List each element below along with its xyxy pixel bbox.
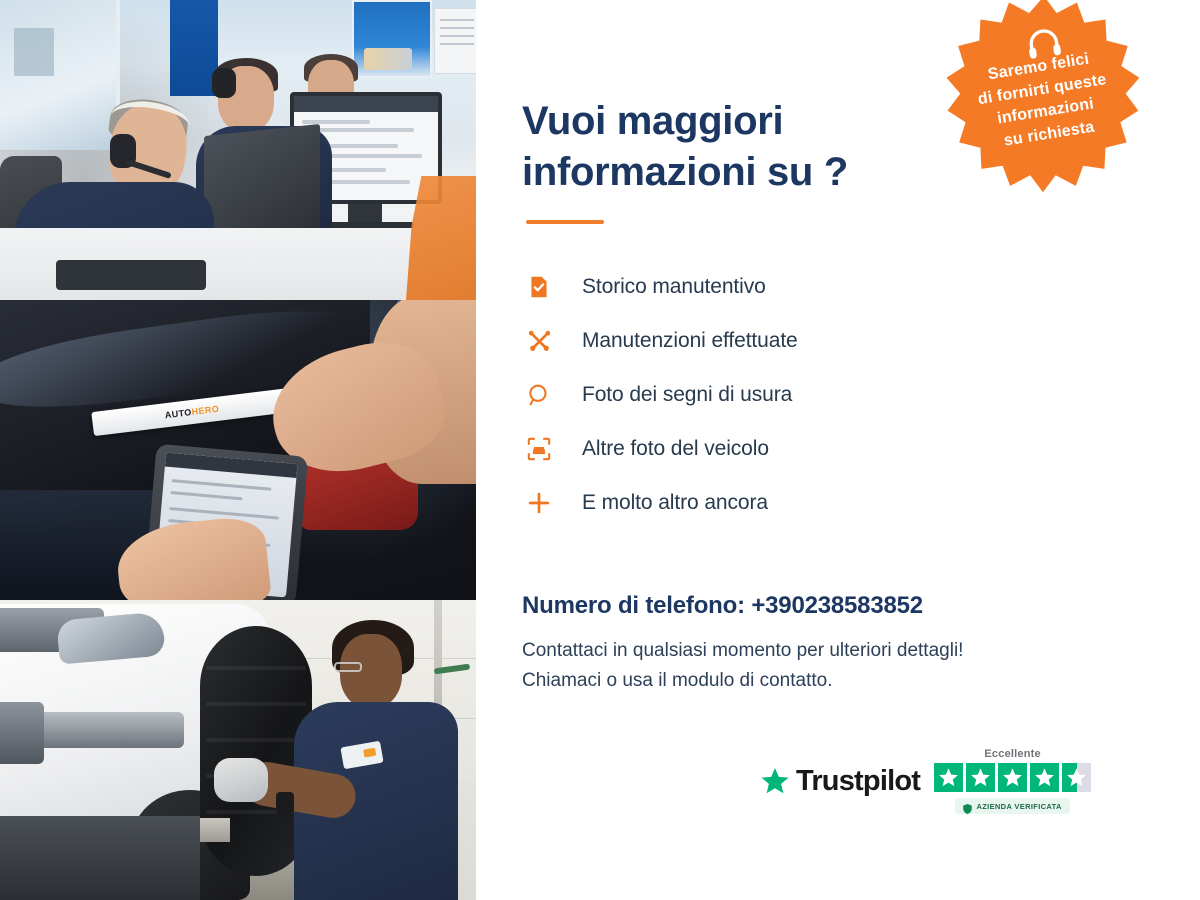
trustpilot-logo[interactable]: Trustpilot: [760, 765, 920, 798]
tool-cabinet-decor: [0, 816, 200, 900]
desk-keyboard-decor: [56, 260, 206, 290]
feature-label: Manutenzioni effettuate: [582, 329, 798, 353]
star-rating: [934, 763, 1091, 792]
feature-label: E molto altro ancora: [582, 491, 768, 515]
ruler-brand-part2: HERO: [191, 403, 220, 416]
trustpilot-widget[interactable]: Trustpilot Eccellente AZIENDA VERIFICATA: [760, 748, 1091, 814]
star-5-half: [1062, 763, 1091, 792]
phone-number-line[interactable]: Numero di telefono: +390238583852: [522, 592, 1200, 620]
rating-label: Eccellente: [984, 748, 1040, 760]
media-column: AUTOHERO: [0, 0, 476, 900]
promo-page: AUTOHERO: [0, 0, 1200, 900]
feature-label: Altre foto del veicolo: [582, 437, 769, 461]
feature-item-wear-photos: Foto dei segni di usura: [522, 368, 1200, 422]
feature-label: Foto dei segni di usura: [582, 383, 792, 407]
feature-label: Storico manutentivo: [582, 275, 766, 299]
verified-label: AZIENDA VERIFICATA: [976, 802, 1061, 811]
car-lower-grille-decor: [0, 702, 44, 764]
page-title: Vuoi maggiori informazioni su ?: [522, 96, 942, 198]
document-check-icon: [522, 270, 556, 304]
monitor-stand-decor: [348, 204, 382, 224]
feature-item-much-more: E molto altro ancora: [522, 476, 1200, 530]
shield-icon: [963, 801, 972, 811]
trustpilot-rating: Eccellente AZIENDA VERIFICATA: [934, 748, 1091, 814]
star-1: [934, 763, 963, 792]
car-scan-frame-icon: [522, 432, 556, 466]
ruler-brand-part1: AUTO: [164, 407, 192, 420]
call-center-agents-photo: [0, 0, 476, 300]
laptop-screen-decor: [204, 124, 320, 240]
feature-item-maintenance-done: Manutenzioni effettuate: [522, 314, 1200, 368]
verified-business-badge: AZIENDA VERIFICATA: [955, 798, 1069, 814]
feature-item-more-photos: Altre foto del veicolo: [522, 422, 1200, 476]
car-headlight-decor: [56, 611, 165, 664]
trustpilot-star-icon: [760, 766, 790, 796]
contact-copy-line-2: Chiamaci o usa il modulo di contatto.: [522, 670, 833, 691]
request-info-badge: Saremo felici di fornirti queste informa…: [938, 0, 1150, 210]
contact-copy-line-1: Contattaci in qualsiasi momento per ulte…: [522, 640, 963, 661]
trustpilot-wordmark: Trustpilot: [796, 765, 920, 798]
orange-divider: [526, 220, 604, 224]
plus-icon: [522, 486, 556, 520]
contact-copy: Contattaci in qualsiasi momento per ulte…: [522, 636, 1142, 695]
feature-item-service-history: Storico manutentivo: [522, 260, 1200, 314]
magnifier-icon: [522, 378, 556, 412]
tools-wrench-screwdriver-icon: [522, 324, 556, 358]
features-list: Storico manutentivo Manutenzi: [522, 260, 1200, 530]
wall-sheet-decor: [434, 8, 476, 74]
car-bumper-vent-decor: [34, 712, 184, 748]
vehicle-inspection-photo: AUTOHERO: [0, 300, 476, 600]
workshop-mechanic-photo: [0, 600, 476, 900]
mechanic-figure-decor: [288, 618, 458, 900]
headline-line-1: Vuoi maggiori: [522, 99, 783, 143]
star-4: [1030, 763, 1059, 792]
star-2: [966, 763, 995, 792]
headline-line-2: informazioni su ?: [522, 150, 848, 194]
star-3: [998, 763, 1027, 792]
